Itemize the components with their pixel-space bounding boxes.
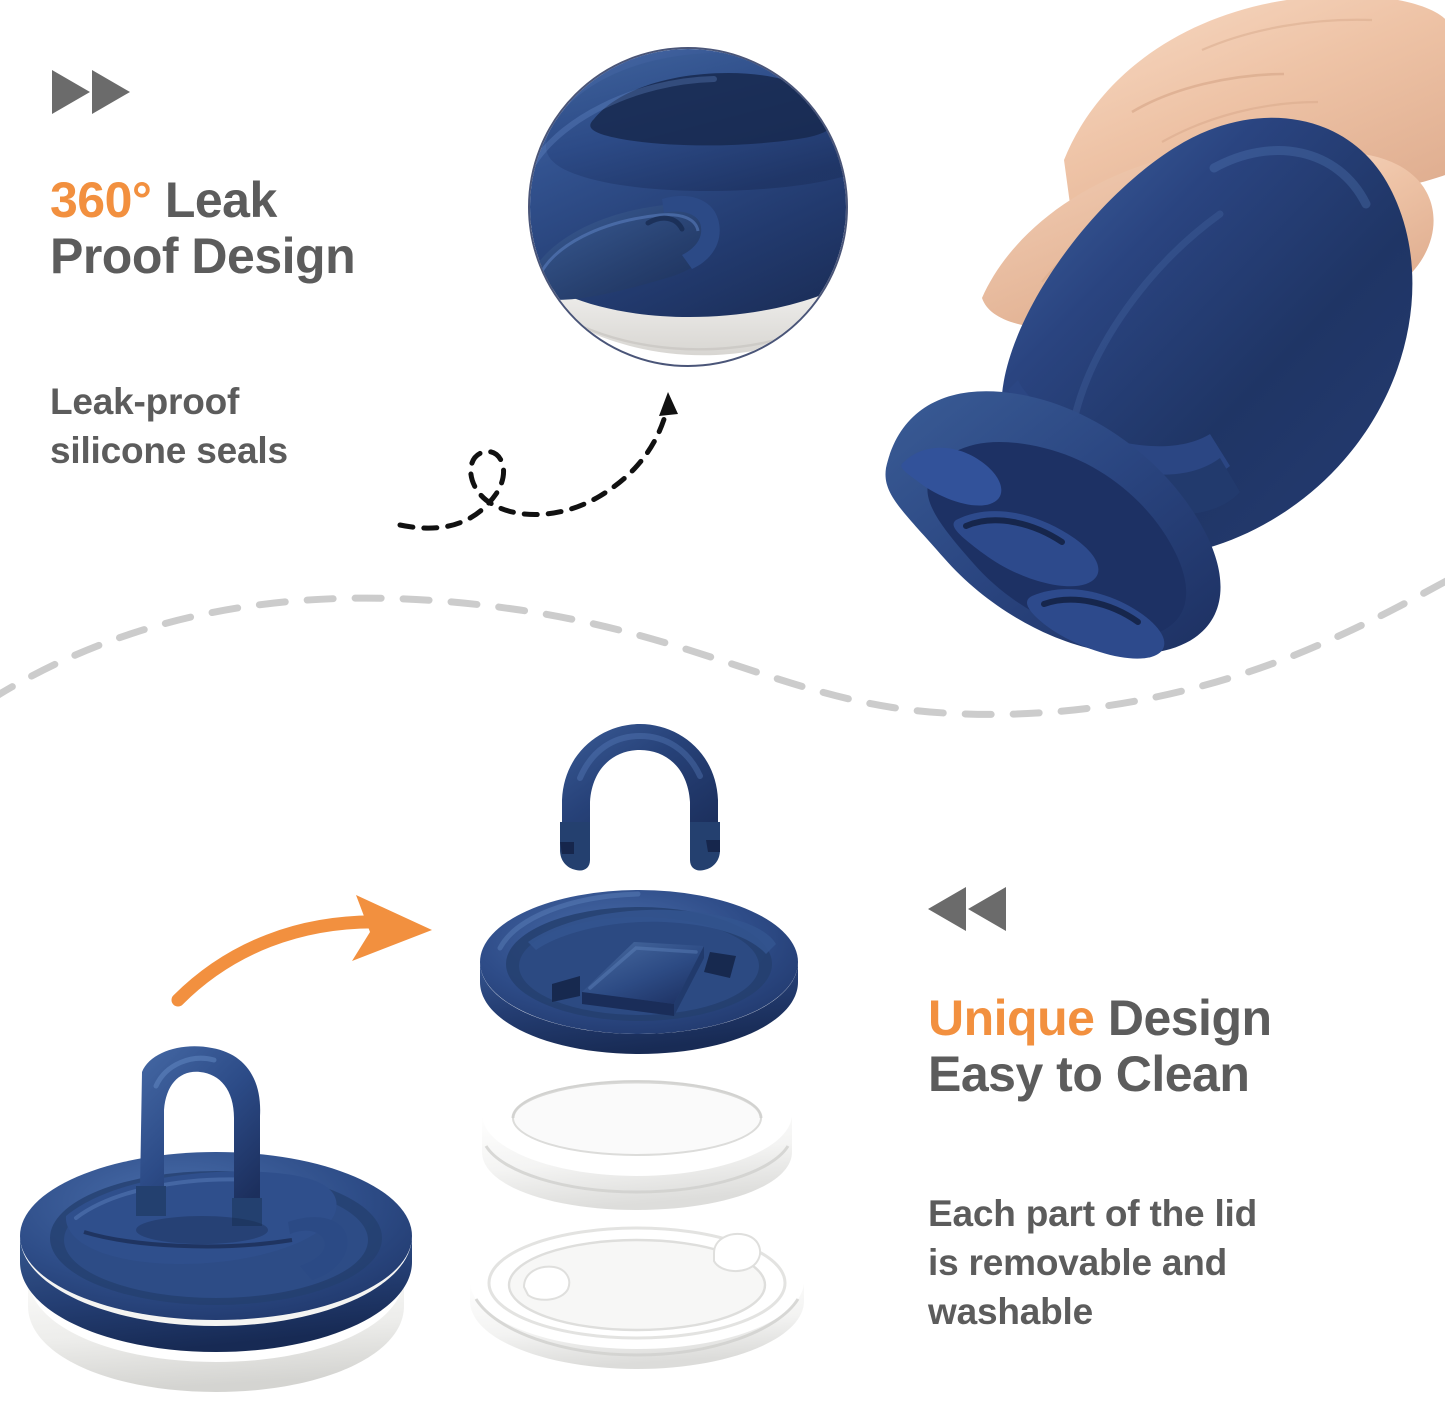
- leakproof-subtext: Leak-proof silicone seals: [50, 378, 470, 476]
- assembled-lid: [6, 1040, 426, 1400]
- leakproof-heading-rest: Leak: [151, 172, 276, 228]
- unique-design-heading-rest: Design: [1094, 990, 1271, 1046]
- unique-design-heading: Unique Design Easy to Clean: [928, 990, 1428, 1102]
- unique-design-heading-line2: Easy to Clean: [928, 1046, 1249, 1102]
- washable-subtext-line1: Each part of the lid: [928, 1193, 1257, 1234]
- fast-forward-icon: [52, 68, 136, 121]
- infographic-canvas: 360° Leak Proof Design Leak-proof silico…: [0, 0, 1445, 1412]
- lid-closeup-art: [528, 47, 848, 367]
- washable-subtext-line3: washable: [928, 1291, 1093, 1332]
- exploded-silicone-seal-disc: [462, 1195, 812, 1375]
- leakproof-heading-highlight: 360°: [50, 172, 151, 228]
- washable-subtext: Each part of the lid is removable and wa…: [928, 1190, 1428, 1336]
- exploded-handle-clip: [540, 718, 740, 878]
- leakproof-subtext-line2: silicone seals: [50, 430, 288, 471]
- leakproof-heading-line2: Proof Design: [50, 228, 355, 284]
- hand-holding-bottle-photo: [832, 0, 1445, 692]
- washable-subtext-line2: is removable and: [928, 1242, 1227, 1283]
- exploded-silicone-ring: [472, 1060, 802, 1210]
- unique-design-heading-highlight: Unique: [928, 990, 1094, 1046]
- leakproof-heading: 360° Leak Proof Design: [50, 172, 520, 284]
- orange-curved-arrow: [178, 895, 432, 1000]
- rewind-icon: [928, 885, 1012, 938]
- lid-seal-closeup-inset: [528, 47, 848, 367]
- leakproof-subtext-line1: Leak-proof: [50, 381, 239, 422]
- exploded-lid-disc: [474, 870, 804, 1065]
